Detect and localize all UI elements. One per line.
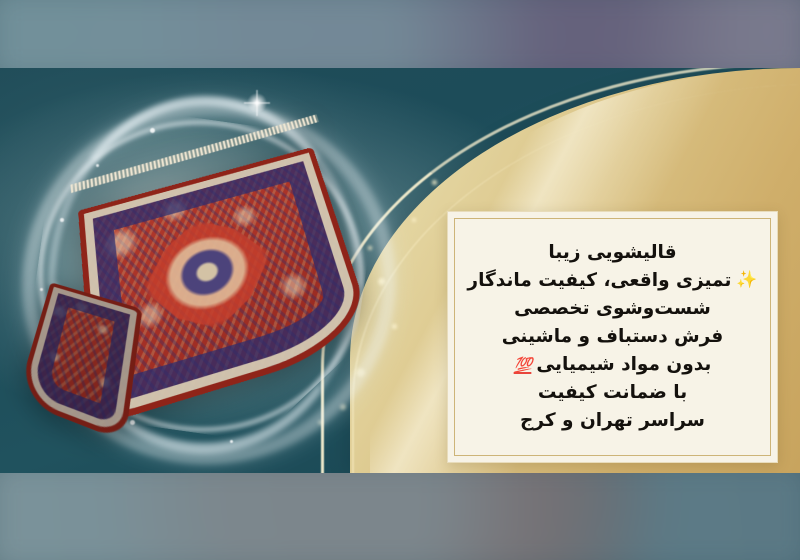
banner-canvas: قالیشویی زیبا ✨ تمیزی واقعی، کیفیت ماندگ…	[0, 68, 800, 473]
water-droplet	[150, 128, 155, 133]
backdrop-top-strip	[0, 0, 800, 70]
ad-line-7-text: سراسر تهران و کرج	[520, 407, 705, 435]
gold-bokeh-dot	[392, 324, 397, 329]
rug-body	[8, 137, 356, 422]
ad-line-2-text: تمیزی واقعی، کیفیت ماندگار	[467, 267, 731, 295]
water-droplet	[230, 440, 233, 443]
ad-line-2: ✨ تمیزی واقعی، کیفیت ماندگار	[467, 267, 757, 295]
ad-line-3: شست‌وشوی تخصصی	[514, 295, 711, 323]
hundred-points-emoji: 💯	[514, 354, 532, 377]
ad-text-card: قالیشویی زیبا ✨ تمیزی واقعی، کیفیت ماندگ…	[447, 211, 778, 463]
sparkle-star	[244, 90, 270, 116]
persian-rug-image	[22, 156, 342, 404]
ad-line-4-text: فرش دستباف و ماشینی	[502, 323, 724, 351]
ad-line-6-text: با ضمانت کیفیت	[538, 379, 687, 407]
rug-folded-corner	[16, 282, 142, 442]
water-droplet	[130, 420, 135, 425]
ad-line-1-text: قالیشویی زیبا	[548, 239, 676, 267]
backdrop-bottom-strip	[0, 472, 800, 560]
ad-line-1: قالیشویی زیبا	[548, 239, 676, 267]
ad-line-4: فرش دستباف و ماشینی	[502, 323, 724, 351]
advertisement-banner: قالیشویی زیبا ✨ تمیزی واقعی، کیفیت ماندگ…	[0, 0, 800, 560]
backdrop-bottom-blur	[0, 472, 800, 560]
ad-line-3-text: شست‌وشوی تخصصی	[514, 295, 711, 323]
backdrop-top-blur	[0, 0, 800, 70]
ad-line-5-text: بدون مواد شیمیایی	[536, 351, 711, 379]
ad-line-6: با ضمانت کیفیت	[538, 379, 687, 407]
gold-bokeh-dot	[412, 218, 416, 222]
ad-line-7: سراسر تهران و کرج	[520, 407, 705, 435]
gold-bokeh-dot	[432, 180, 437, 185]
ad-line-5: بدون مواد شیمیایی 💯	[514, 351, 712, 379]
sparkles-emoji: ✨	[736, 272, 757, 289]
ad-text-card-inner: قالیشویی زیبا ✨ تمیزی واقعی، کیفیت ماندگ…	[454, 218, 771, 456]
